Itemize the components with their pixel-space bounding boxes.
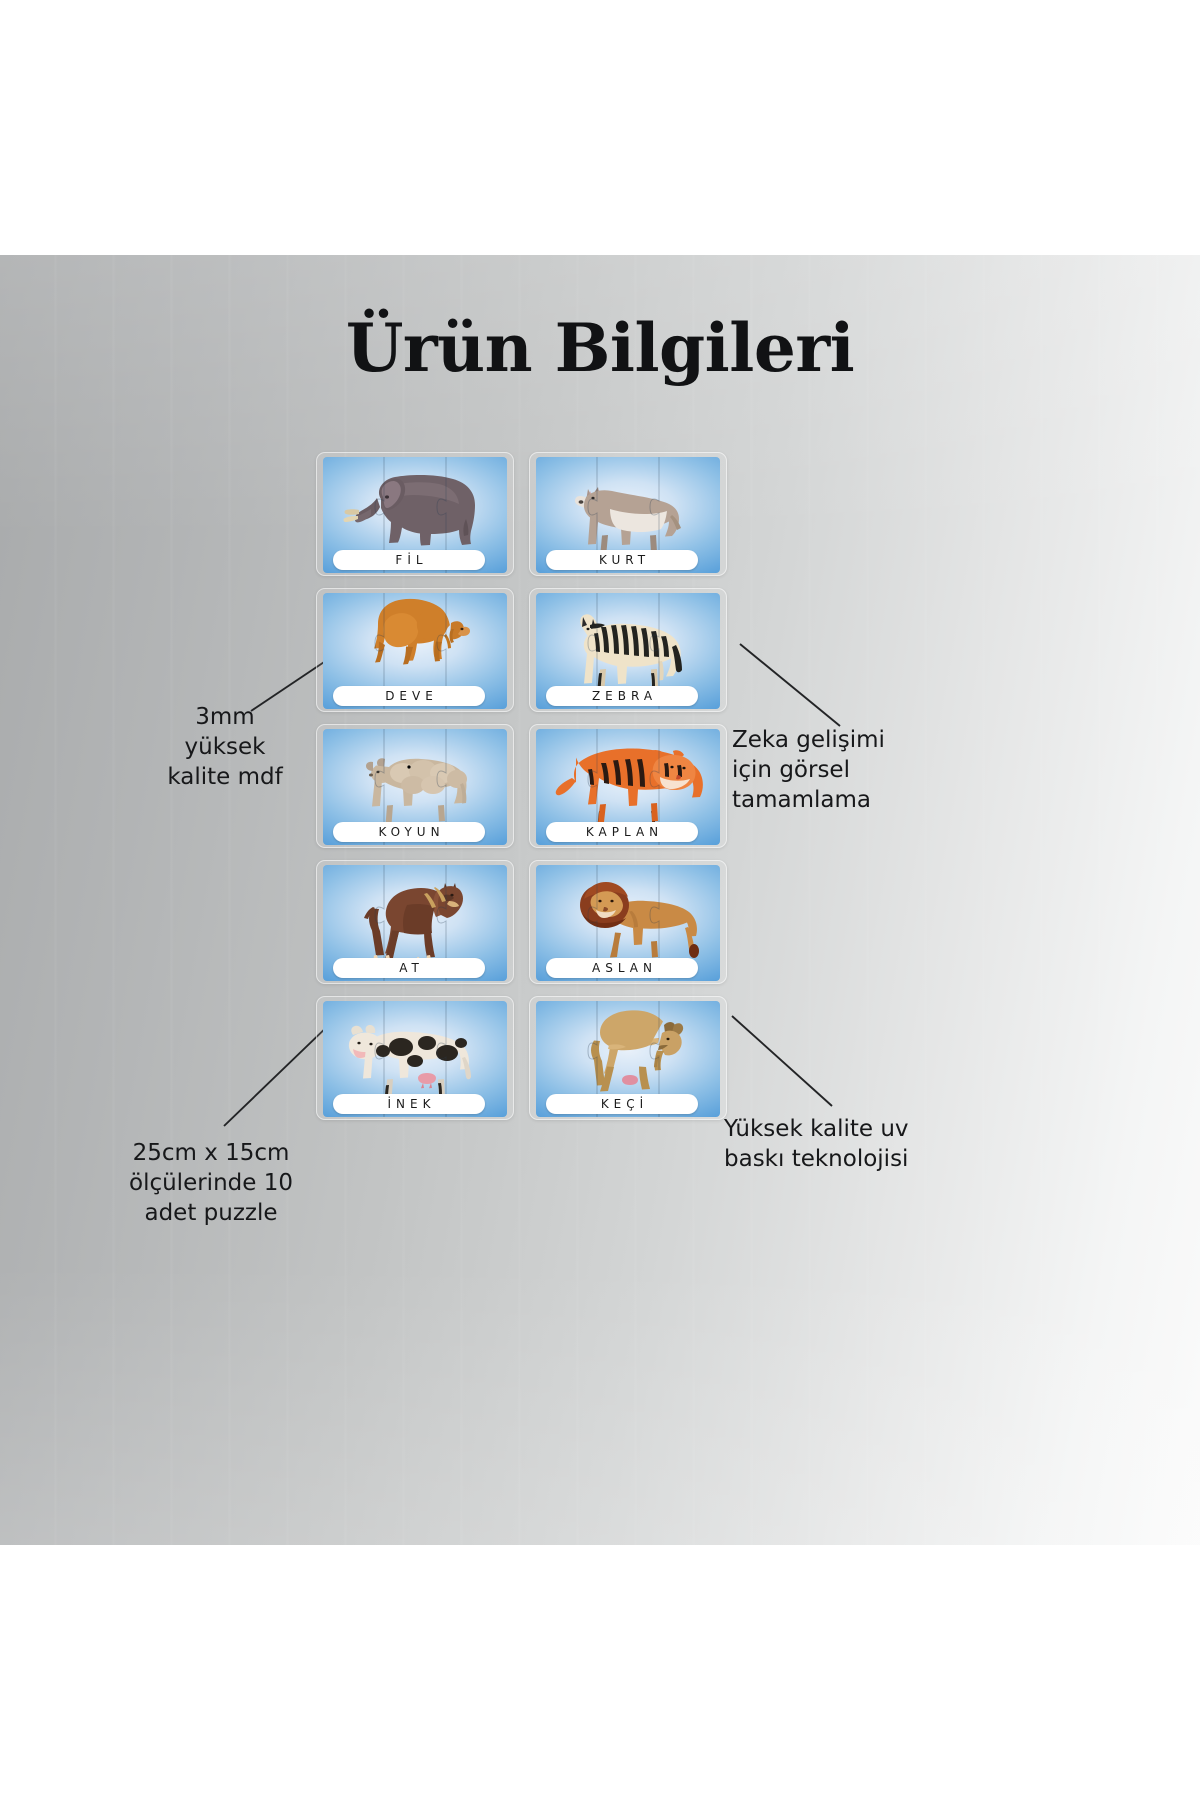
annotation-olcu-line1: 25cm x 15cm	[96, 1139, 326, 1169]
puzzle-label: KOYUN	[333, 822, 485, 842]
puzzle-label: KEÇİ	[546, 1094, 698, 1114]
puzzle-card-inek[interactable]: İNEK	[316, 996, 514, 1120]
puzzle-card-kurt[interactable]: KURT	[529, 452, 727, 576]
annotation-olcu-line3: adet puzzle	[96, 1199, 326, 1229]
puzzle-label-text: DEVE	[380, 690, 438, 702]
page-title: Ürün Bilgileri	[0, 312, 1200, 385]
infographic-stage: Ürün Bilgileri	[0, 0, 1200, 1800]
puzzle-label-text: FİL	[390, 554, 427, 566]
annotation-mdf-line3: kalite mdf	[130, 763, 320, 793]
puzzle-label: ASLAN	[546, 958, 698, 978]
puzzle-card-zebra[interactable]: ZEBRA	[529, 588, 727, 712]
puzzle-label-text: KEÇİ	[596, 1098, 648, 1110]
annotation-uv-line1: Yüksek kalite uv	[724, 1115, 986, 1145]
puzzle-card-koyun[interactable]: KOYUN	[316, 724, 514, 848]
annotation-olcu: 25cm x 15cm ölçülerinde 10 adet puzzle	[96, 1139, 326, 1229]
puzzle-label-text: İNEK	[383, 1098, 436, 1110]
annotation-zeka: Zeka gelişimi için görsel tamamlama	[732, 726, 972, 816]
annotation-uv: Yüksek kalite uv baskı teknolojisi	[724, 1115, 986, 1175]
puzzle-label-text: AT	[394, 962, 424, 974]
puzzle-label-text: ASLAN	[587, 962, 657, 974]
annotation-zeka-line2: için görsel	[732, 756, 972, 786]
puzzle-grid: FİL	[316, 452, 728, 1114]
puzzle-card-at[interactable]: AT	[316, 860, 514, 984]
puzzle-label: KAPLAN	[546, 822, 698, 842]
puzzle-label: İNEK	[333, 1094, 485, 1114]
puzzle-label-text: KURT	[594, 554, 650, 566]
puzzle-card-fil[interactable]: FİL	[316, 452, 514, 576]
puzzle-label: KURT	[546, 550, 698, 570]
puzzle-card-aslan[interactable]: ASLAN	[529, 860, 727, 984]
puzzle-label: AT	[333, 958, 485, 978]
annotation-olcu-line2: ölçülerinde 10	[96, 1169, 326, 1199]
puzzle-label: ZEBRA	[546, 686, 698, 706]
annotation-mdf-line1: 3mm	[130, 703, 320, 733]
annotation-mdf: 3mm yüksek kalite mdf	[130, 703, 320, 793]
puzzle-label: FİL	[333, 550, 485, 570]
puzzle-label-text: KOYUN	[373, 826, 444, 838]
annotation-uv-line2: baskı teknolojisi	[724, 1145, 986, 1175]
puzzle-label: DEVE	[333, 686, 485, 706]
puzzle-card-kaplan[interactable]: KAPLAN	[529, 724, 727, 848]
annotation-mdf-line2: yüksek	[130, 733, 320, 763]
annotation-zeka-line3: tamamlama	[732, 786, 972, 816]
leader-line-uv	[726, 1012, 838, 1110]
puzzle-card-keci[interactable]: KEÇİ	[529, 996, 727, 1120]
puzzle-label-text: ZEBRA	[587, 690, 657, 702]
puzzle-label-text: KAPLAN	[581, 826, 663, 838]
annotation-zeka-line1: Zeka gelişimi	[732, 726, 972, 756]
puzzle-card-deve[interactable]: DEVE	[316, 588, 514, 712]
leader-line-zeka	[736, 640, 846, 730]
